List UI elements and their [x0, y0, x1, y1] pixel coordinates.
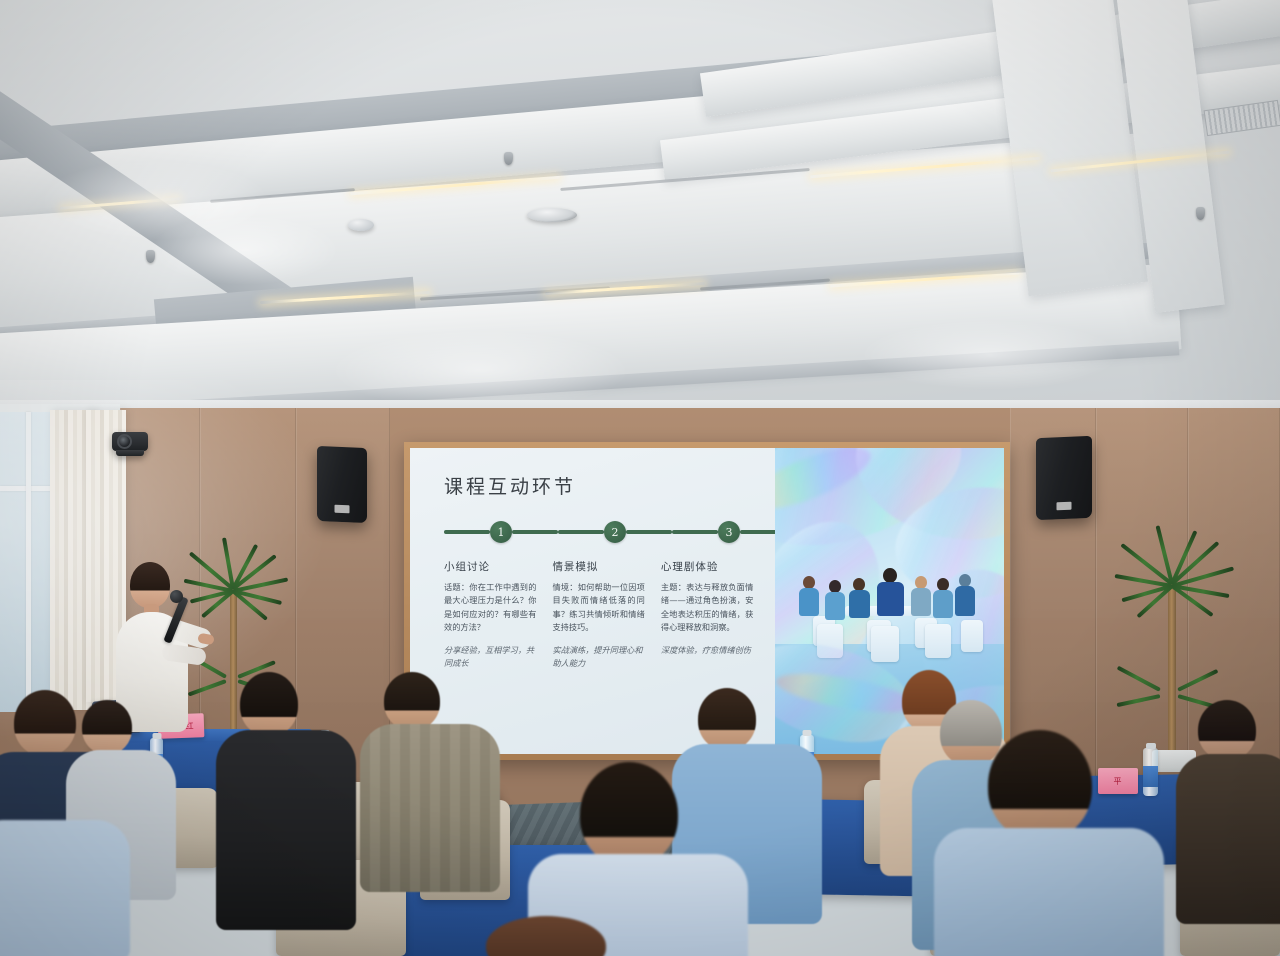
timeline-step-3: 3	[718, 521, 740, 543]
ceiling-speaker	[527, 208, 577, 222]
slide-columns: 小组讨论 话题：你在工作中遇到的最大心理压力是什么？你是如何应对的？有哪些有效的…	[444, 559, 759, 671]
slide-column-3: 心理剧体验 主题：表达与释放负面情绪——通过角色扮演，安全地表达积压的情绪，获得…	[661, 559, 759, 671]
smoke-detector	[348, 219, 374, 231]
column-heading: 情景模拟	[552, 559, 644, 574]
timeline-connector	[512, 530, 558, 534]
slide-column-1: 小组讨论 话题：你在工作中遇到的最大心理压力是什么？你是如何应对的？有哪些有效的…	[444, 559, 542, 671]
timeline-connector	[558, 530, 604, 534]
ptz-camera-mount	[116, 450, 144, 456]
timeline-step-1: 1	[490, 521, 512, 543]
timeline-connector	[672, 530, 718, 534]
column-heading: 心理剧体验	[661, 559, 753, 574]
column-heading: 小组讨论	[444, 559, 536, 574]
timeline-step-2: 2	[604, 521, 626, 543]
ptz-camera	[112, 432, 148, 451]
sprinkler-head	[504, 152, 513, 165]
presenter	[108, 562, 218, 732]
slide-title: 课程互动环节	[444, 472, 759, 499]
column-body: 情境：如何帮助一位因项目失败而情绪低落的同事？练习共情倾听和情绪支持技巧。	[552, 581, 644, 634]
column-note: 深度体验，疗愈情绪创伤	[661, 644, 753, 657]
timeline-connector	[444, 530, 490, 534]
sprinkler-head	[1196, 207, 1205, 220]
sprinkler-head	[146, 250, 155, 263]
slide-timeline: 1 2 3	[444, 521, 759, 545]
timeline-connector	[626, 530, 672, 534]
column-note: 实战演练，提升同理心和助人能力	[552, 644, 644, 671]
wall-speaker-right	[1036, 436, 1092, 520]
slide-column-2: 情景模拟 情境：如何帮助一位因项目失败而情绪低落的同事？练习共情倾听和情绪支持技…	[552, 559, 650, 671]
training-room-photo: 课程互动环节 1 2 3	[0, 0, 1280, 956]
water-bottle	[1143, 748, 1158, 796]
ceiling	[0, 0, 1280, 430]
microphone-head	[170, 590, 183, 603]
column-body: 主题：表达与释放负面情绪——通过角色扮演，安全地表达积压的情绪，获得心理释放和洞…	[661, 581, 753, 634]
wall-speaker-left	[317, 446, 367, 523]
namecard-attendee: 平	[1098, 768, 1138, 794]
column-body: 话题：你在工作中遇到的最大心理压力是什么？你是如何应对的？有哪些有效的方法？	[444, 581, 536, 634]
column-note: 分享经验，互相学习，共同成长	[444, 644, 536, 671]
